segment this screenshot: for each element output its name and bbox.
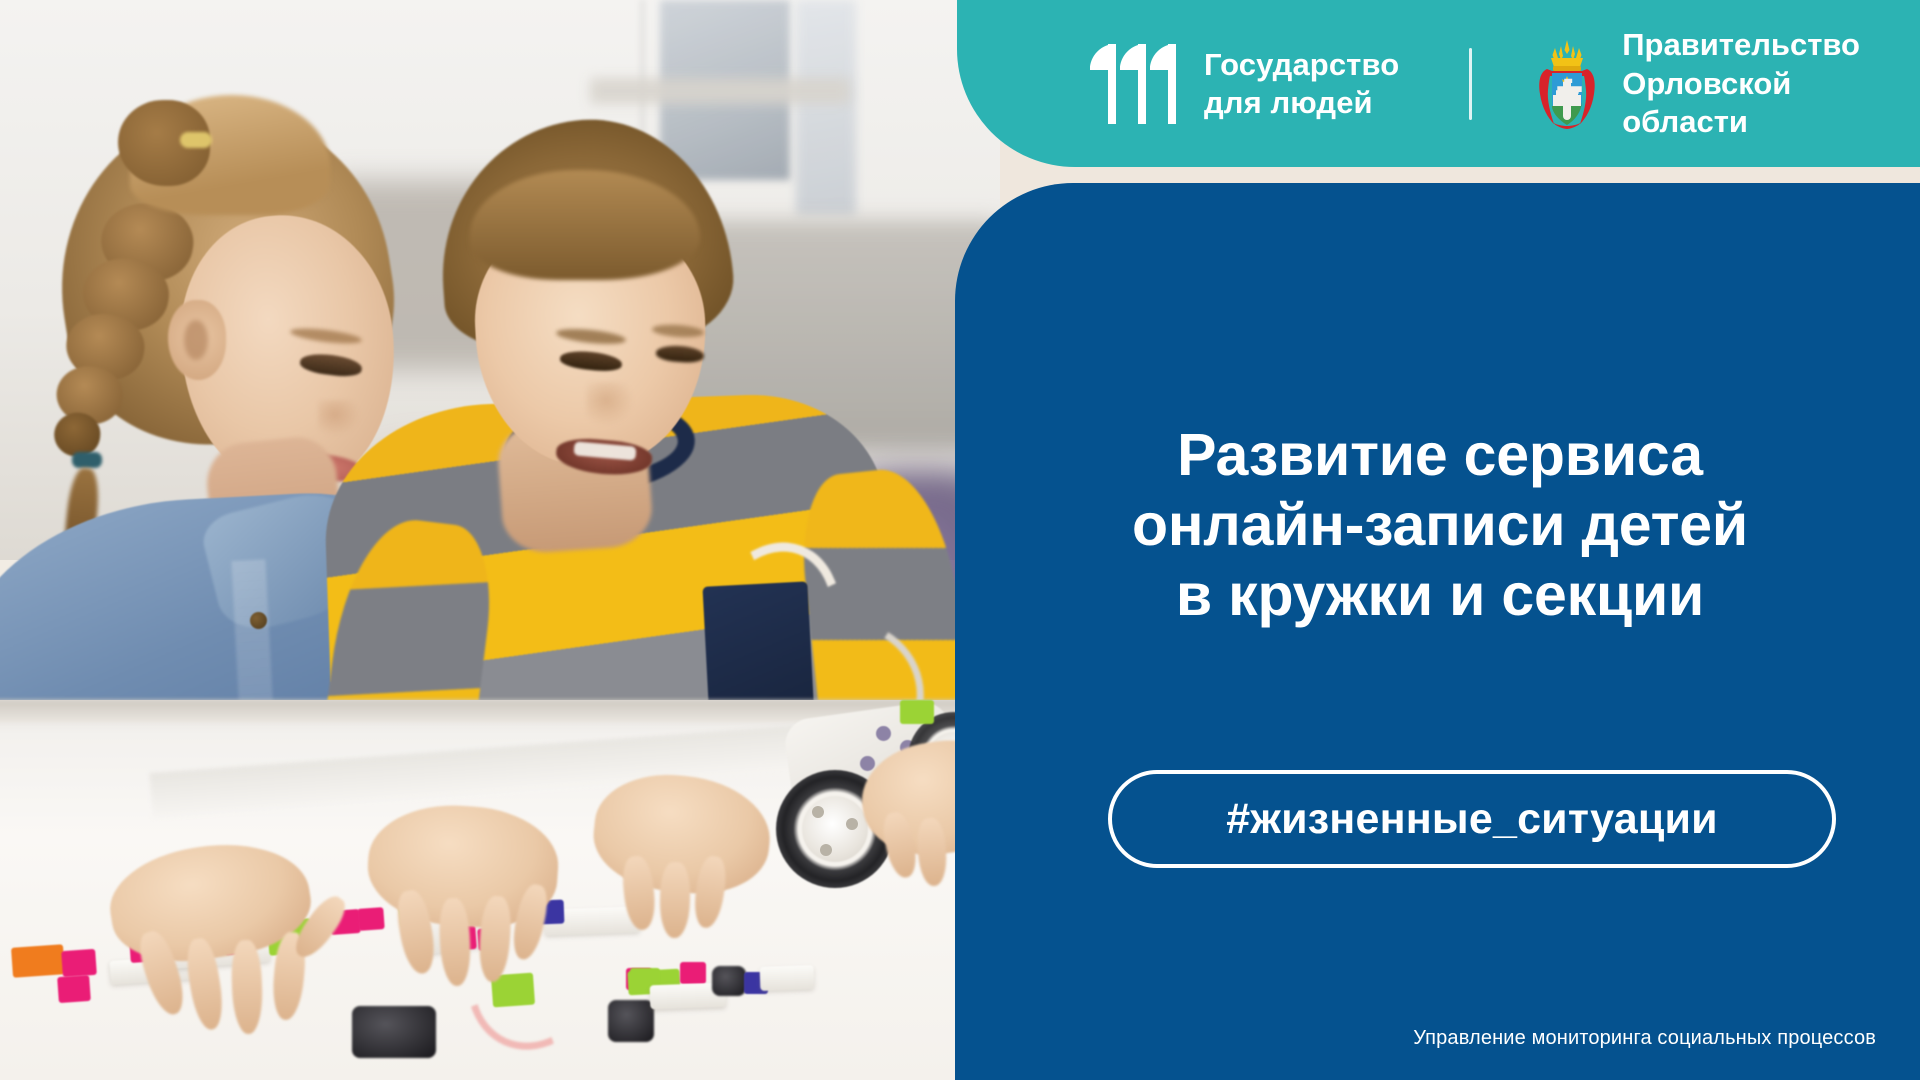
hashtag-button[interactable]: #жизненные_ситуации xyxy=(1108,770,1836,868)
wheel-detail xyxy=(820,844,832,856)
module-orange xyxy=(11,944,65,978)
hashtag-label: #жизненные_ситуации xyxy=(1226,795,1717,844)
footer-attribution: Управление мониторинга социальных процес… xyxy=(1413,1027,1876,1050)
poster-root: Государство для людей xyxy=(0,0,1920,1080)
module-magenta xyxy=(357,907,384,931)
content-panel xyxy=(955,183,1920,1080)
girl-ear xyxy=(168,300,226,380)
page-title: Развитие сервиса онлайн-записи детей в к… xyxy=(1000,420,1880,631)
background-shelf xyxy=(590,78,850,104)
photo-children-robotics xyxy=(0,0,1000,1080)
module-black-small xyxy=(712,966,746,996)
girl-nose xyxy=(318,400,360,436)
boy-nose xyxy=(586,382,634,426)
module-black-small xyxy=(608,1000,654,1042)
gov-brand-text: Правительство Орловской области xyxy=(1622,26,1920,141)
oryol-oblast-coat-of-arms-icon xyxy=(1534,38,1600,130)
robot-hole xyxy=(876,726,891,741)
module-magenta xyxy=(680,962,706,984)
module-white xyxy=(760,965,815,991)
girl-hair-band xyxy=(72,452,102,468)
logo-divider xyxy=(1469,48,1472,120)
gosuslugi-mark-icon xyxy=(1090,44,1182,124)
wheel-detail xyxy=(812,806,824,818)
girl-hair-tie xyxy=(180,132,212,148)
robot-hole xyxy=(860,756,875,771)
module-magenta xyxy=(57,975,91,1003)
background-window-secondary xyxy=(796,0,856,215)
gos-brand-text: Государство для людей xyxy=(1204,46,1399,123)
header-logo-lockup: Государство для людей xyxy=(1090,38,1920,130)
module-green xyxy=(900,700,934,724)
shirt-button xyxy=(250,612,267,629)
wheel-detail xyxy=(846,818,858,830)
module-magenta xyxy=(61,949,97,977)
